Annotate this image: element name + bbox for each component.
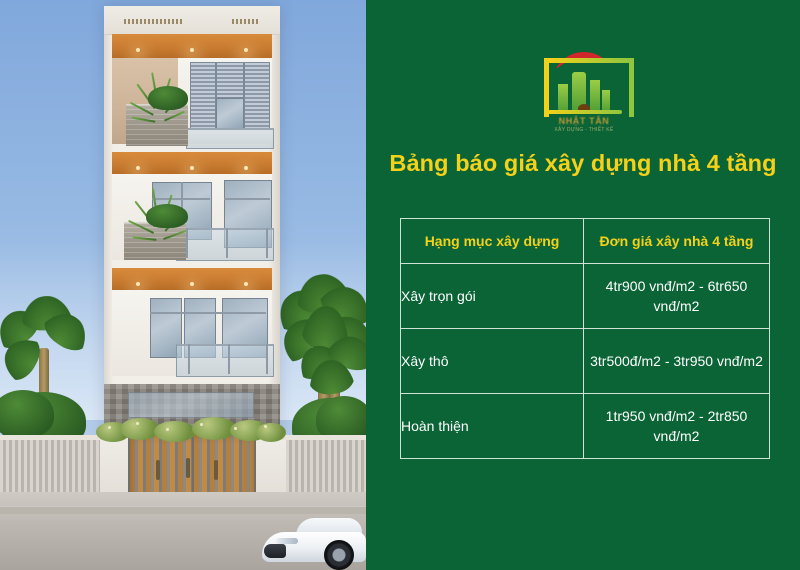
louver-panel-4b	[216, 62, 244, 98]
soffit-floor-2	[112, 268, 272, 290]
logo-company-name: NHẬT TÂN	[528, 116, 640, 126]
vine-bloom	[136, 422, 139, 425]
price-table-head: Hạng mục xây dựng Đơn giá xây nhà 4 tầng	[401, 219, 770, 264]
window-floor-4	[216, 98, 244, 130]
wall-cap-left	[0, 435, 104, 440]
gate-slot	[156, 460, 160, 480]
column-header-category: Hạng mục xây dựng	[401, 219, 584, 264]
table-row: Hoàn thiện 1tr950 vnđ/m2 - 2tr850 vnđ/m2	[401, 394, 770, 459]
downlight	[136, 166, 140, 170]
table-header-row: Hạng mục xây dựng Đơn giá xây nhà 4 tầng	[401, 219, 770, 264]
quote-panel: NHẬT TÂN XÂY DỰNG - THIẾT KẾ Bảng báo gi…	[366, 0, 800, 570]
wall-cap-right	[280, 435, 366, 440]
parked-car	[262, 514, 366, 570]
window-transom	[150, 312, 266, 314]
gate-slot	[186, 458, 190, 478]
logo-building-right	[590, 80, 600, 114]
plant-clump-floor-3	[146, 204, 188, 228]
table-row: Xây trọn gói 4tr900 vnđ/m2 - 6tr650 vnđ/…	[401, 264, 770, 329]
rail-post	[186, 228, 188, 258]
row-value-tron-goi: 4tr900 vnđ/m2 - 6tr650 vnđ/m2	[584, 264, 770, 329]
page-title: Bảng báo giá xây dựng nhà 4 tầng	[374, 150, 792, 177]
row-label-xay-tho: Xây thô	[401, 329, 584, 394]
rail-post	[266, 228, 268, 258]
vine-clump	[256, 423, 286, 442]
ground-floor-glazing	[128, 392, 254, 418]
table-row: Xây thô 3tr500đ/m2 - 3tr950 vnđ/m2	[401, 329, 770, 394]
curb	[0, 506, 366, 514]
logo-baseline	[546, 110, 622, 114]
plant-clump-floor-4	[148, 86, 188, 110]
balcony-rail-floor-4	[186, 128, 274, 149]
car-grille	[264, 544, 286, 558]
vine-bloom	[166, 428, 169, 431]
facade-sign-left	[124, 19, 182, 24]
louver-panel-4c	[244, 62, 270, 130]
rail-post	[188, 344, 190, 374]
column-header-price: Đơn giá xây nhà 4 tầng	[584, 219, 770, 264]
downlight	[190, 166, 194, 170]
vine-bloom	[234, 427, 237, 430]
door-transom	[224, 198, 270, 200]
downlight	[190, 282, 194, 286]
louver-panel-4a	[190, 62, 216, 130]
row-value-xay-tho: 3tr500đ/m2 - 3tr950 vnđ/m2	[584, 329, 770, 394]
balcony-rail-floor-2	[176, 344, 274, 377]
gate-slot	[214, 460, 218, 480]
rail-post	[226, 228, 228, 258]
rail-post	[266, 344, 268, 374]
planter-floor-4	[126, 104, 188, 146]
car-wheel	[324, 540, 354, 570]
row-label-hoan-thien: Hoàn thiện	[401, 394, 584, 459]
quote-infographic: NHẬT TÂN XÂY DỰNG - THIẾT KẾ Bảng báo gi…	[0, 0, 800, 570]
vine-bloom	[108, 426, 111, 429]
vine-clump	[154, 421, 196, 442]
row-label-tron-goi: Xây trọn gói	[401, 264, 584, 329]
downlight	[136, 48, 140, 52]
company-logo: NHẬT TÂN XÂY DỰNG - THIẾT KẾ	[528, 46, 640, 138]
row-value-hoan-thien: 1tr950 vnđ/m2 - 2tr850 vnđ/m2	[584, 394, 770, 459]
vine-bloom	[264, 425, 267, 428]
downlight	[136, 282, 140, 286]
price-table-body: Xây trọn gói 4tr900 vnđ/m2 - 6tr650 vnđ/…	[401, 264, 770, 459]
price-table: Hạng mục xây dựng Đơn giá xây nhà 4 tầng…	[400, 218, 770, 459]
downlight	[244, 282, 248, 286]
house-photo	[0, 0, 366, 570]
downlight	[190, 48, 194, 52]
downlight	[244, 166, 248, 170]
vine-bloom	[200, 423, 203, 426]
facade-sign-right	[232, 19, 260, 24]
rail-post	[228, 344, 230, 374]
balcony-rail-floor-3	[176, 228, 274, 261]
downlight	[244, 48, 248, 52]
shrub-left-2	[0, 390, 54, 438]
soffit-floor-4	[112, 34, 272, 58]
planter-floor-3	[124, 222, 186, 260]
logo-tagline: XÂY DỰNG - THIẾT KẾ	[528, 127, 640, 133]
soffit-floor-3	[112, 152, 272, 174]
flowering-vines	[96, 416, 284, 442]
